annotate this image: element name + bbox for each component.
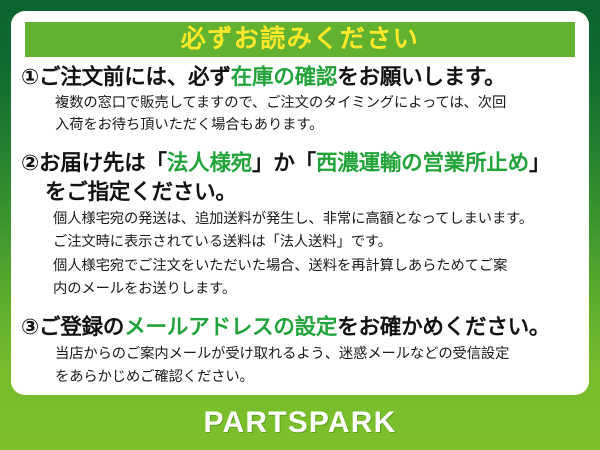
notice-item-2: ②お届け先は「法人様宛」か「西濃運輸の営業所止め」 をご指定ください。 個人様宅… [21, 149, 581, 300]
item-1-head-after: をお願いします。 [337, 65, 505, 89]
item-2-number: ② [21, 151, 39, 175]
item-1-heading: ①ご注文前には、必ず在庫の確認をお願いします。 [21, 63, 581, 92]
item-2-head-middle: か [273, 151, 294, 175]
item-3-sub-line-1: 当店からのご案内メールが受け取れるよう、迷惑メールなどの受信設定 [21, 344, 581, 365]
item-2-bracket-close-1: 」 [252, 151, 273, 175]
item-1-sub-line-2: 入荷をお待ち頂いただく場合もあります。 [21, 115, 581, 136]
item-2-bracket-open-1: 「 [146, 151, 167, 175]
header-band: 必ずお読みください [25, 22, 575, 57]
item-2-heading-line-2: をご指定ください。 [21, 178, 581, 207]
notice-banner: 必ずお読みください ①ご注文前には、必ず在庫の確認をお願いします。 複数の窓口で… [0, 0, 600, 450]
item-2-sub-line-4: 内のメールをお送りします。 [21, 279, 581, 300]
item-2-head-highlight-2: 西濃運輸の営業所止め [316, 151, 529, 175]
item-1-sub-line-1: 複数の窓口で販売してますので、ご注文のタイミングによっては、次回 [21, 93, 581, 114]
page-title: 必ずお読みください [181, 27, 420, 52]
brand-logo: PARTSPARK [203, 408, 396, 438]
footer-band: PARTSPARK [0, 396, 600, 450]
item-1-head-before: ご注文前には、必ず [39, 65, 231, 89]
notice-body: ①ご注文前には、必ず在庫の確認をお願いします。 複数の窓口で販売してますので、ご… [11, 63, 589, 396]
item-2-sub-line-1: 個人様宅宛の発送は、追加送料が発生し、非常に高額となってしまいます。 [21, 209, 581, 230]
item-2-head-highlight: 法人様宛 [167, 151, 252, 175]
item-2-heading: ②お届け先は「法人様宛」か「西濃運輸の営業所止め」 [21, 149, 581, 178]
item-3-number: ③ [21, 315, 39, 339]
item-3-head-after: をお確かめください。 [337, 315, 550, 339]
item-2-sub-line-2: ご注文時に表示されている送料は「法人送料」です。 [21, 232, 581, 253]
notice-item-3: ③ご登録のメールアドレスの設定をお確かめください。 当店からのご案内メールが受け… [21, 313, 581, 388]
item-2-head-before: お届け先は [39, 151, 146, 175]
notice-item-1: ①ご注文前には、必ず在庫の確認をお願いします。 複数の窓口で販売してますので、ご… [21, 63, 581, 136]
item-3-sub-line-2: をあらかじめご確認ください。 [21, 367, 581, 388]
item-1-head-highlight: 在庫の確認 [231, 65, 338, 89]
item-2-bracket-open-2: 「 [295, 151, 316, 175]
item-3-head-highlight: メールアドレスの設定 [124, 315, 337, 339]
item-2-bracket-close-2: 」 [529, 151, 550, 175]
item-3-heading: ③ご登録のメールアドレスの設定をお確かめください。 [21, 313, 581, 342]
item-2-sub-line-3: 個人様宅宛でご注文をいただいた場合、送料を再計算しあらためてご案 [21, 256, 581, 277]
item-1-number: ① [21, 65, 39, 89]
notice-card: 必ずお読みください ①ご注文前には、必ず在庫の確認をお願いします。 複数の窓口で… [11, 11, 589, 395]
item-3-head-before: ご登録の [39, 315, 124, 339]
